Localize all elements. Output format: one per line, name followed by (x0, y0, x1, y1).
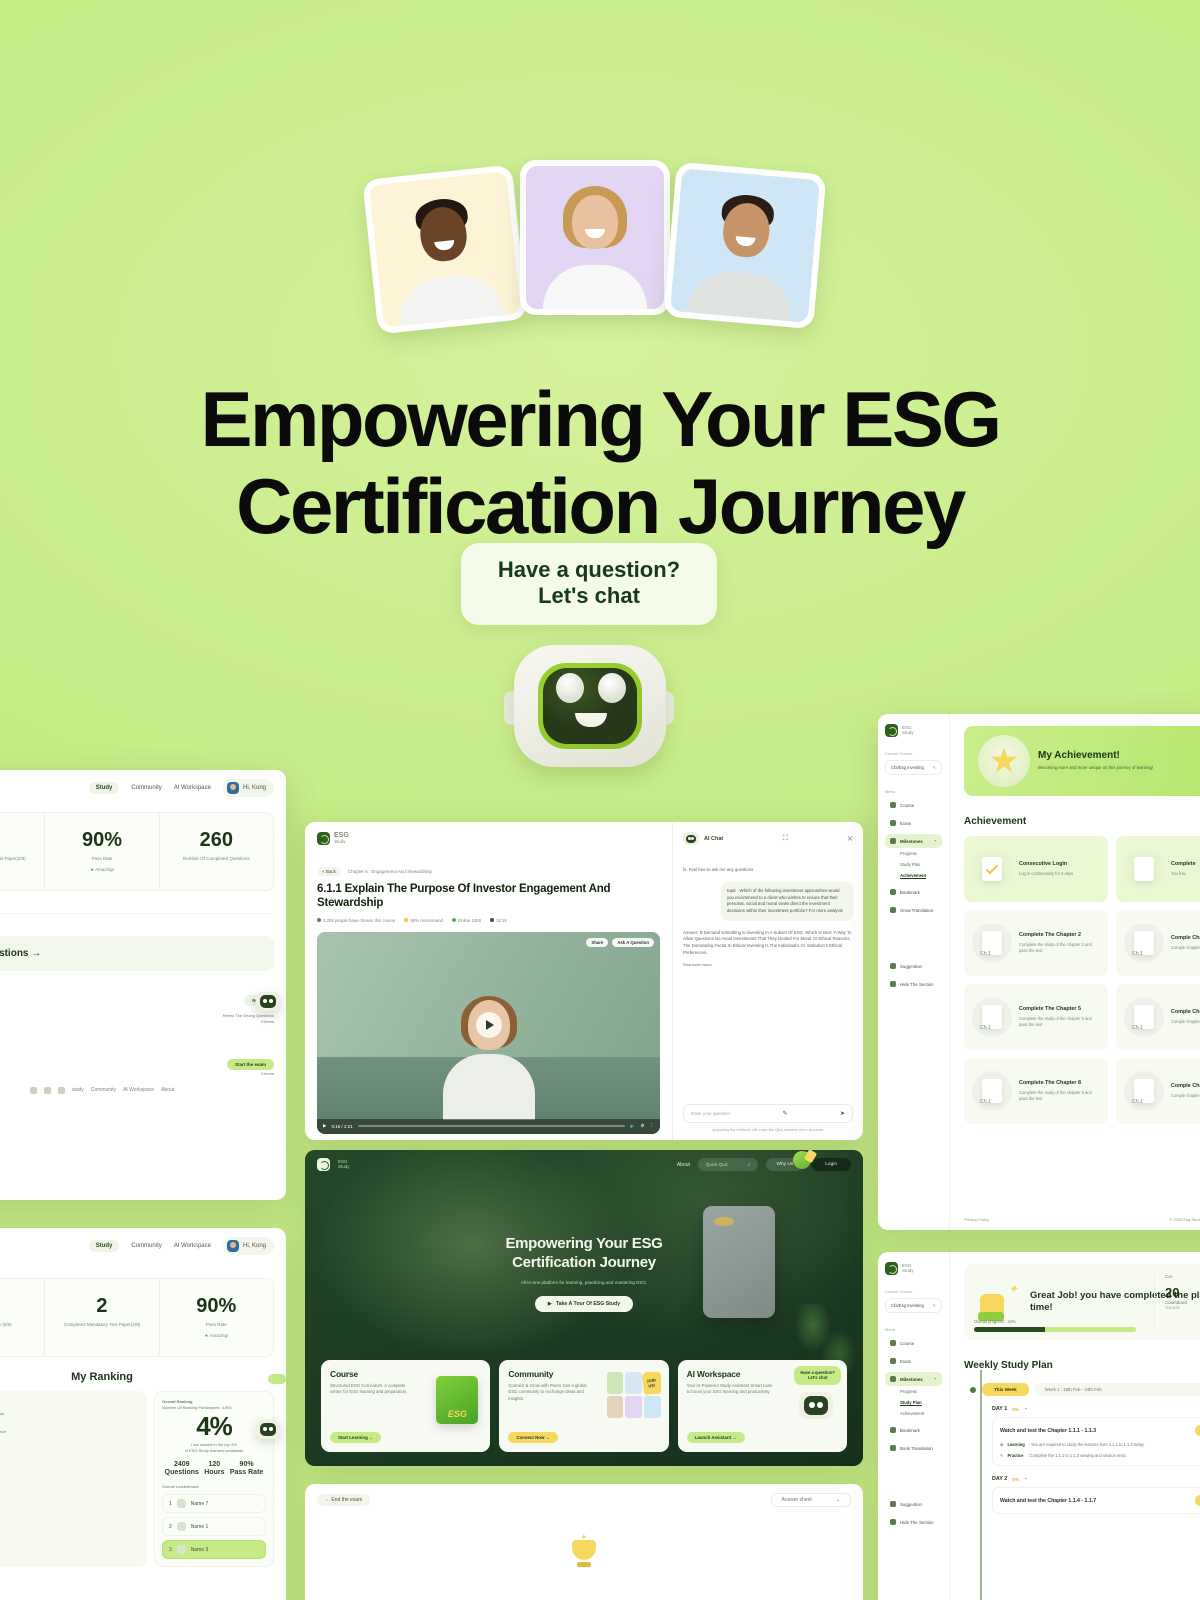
sidebar-item-progress[interactable]: Progress (885, 1386, 942, 1397)
footer-link-ai[interactable]: AI Workspace (123, 1087, 154, 1093)
bar-value: 90% (240, 1461, 254, 1468)
sidebar-item-label: Milestones (900, 839, 923, 844)
ai-greeting: hi, Feel free to ask me any questions (683, 867, 853, 872)
achievement-desc: Log in continuously for 5 days (1019, 871, 1073, 877)
sidebar-bottom: Suggestion Hide The Section (885, 1497, 942, 1529)
assistant-message: Answer: B Demand something to investing … (683, 930, 853, 957)
nav-ai-workspace[interactable]: AI Workspace (174, 785, 211, 791)
reanswer-button[interactable]: Reanswer Issue (683, 962, 853, 968)
exam-screenshot[interactable]: ← End the exam Answer sheet ⌄ ✦ (305, 1484, 863, 1600)
close-icon[interactable]: ✕ (847, 835, 853, 843)
achievement-title: Complete The Chapter 5 (1019, 1006, 1100, 1013)
user-chip[interactable]: Hi, Kong (223, 1237, 274, 1255)
footer: Privacy Policy © 2025 Esg Study. powered… (950, 1217, 1200, 1222)
stat-caption: Completed Mandatory Test Paper(2/9) (49, 1322, 154, 1329)
stat-sub: ★ Amazing! (49, 867, 154, 874)
ai-chat-pane: AI Chat ⛶ ✕ hi, Feel free to ask me any … (673, 822, 863, 1140)
timeline-dot (970, 1387, 976, 1393)
sidebar-item-book-translation[interactable]: Book Translation (885, 1441, 942, 1455)
chevron-up-icon: ⌃ (934, 1377, 937, 1382)
user-message: topic : Which of the following investmen… (721, 882, 853, 921)
collapse-icon (890, 981, 896, 987)
achievement-desc: Complete the study of the chapter 8 and … (1019, 1090, 1100, 1102)
sidebar-item-label: Suggestion (900, 964, 922, 969)
nav-about[interactable]: About (677, 1162, 690, 1168)
sidebar-item-milestones[interactable]: Milestones⌃ (885, 834, 942, 848)
answer-sheet-label: Answer sheet (782, 1497, 812, 1503)
achievement-desc: You hav (1171, 871, 1196, 877)
achievement-grid: Consecutive LoginLog in continuously for… (964, 836, 1200, 1124)
chat-bubble-line2: Let's chat (800, 1375, 835, 1380)
sidebar-item-milestones[interactable]: Milestones⌃ (885, 1372, 942, 1386)
day-label: DAY 1 (992, 1406, 1007, 1412)
progress-label: Overall progress : 44% (974, 1319, 1136, 1324)
feature-cards: Course Structured ESG Curriculum. A comp… (321, 1360, 847, 1452)
volume-icon[interactable]: 🔈 (630, 1123, 636, 1129)
send-icon[interactable]: ➤ (840, 1110, 845, 1117)
exam-icon (890, 820, 896, 826)
ch1-icon: Ch.1 (972, 1071, 1012, 1111)
member-grid-icon: JOIN US! (593, 1370, 661, 1436)
ch1-icon: Ch.1 (1124, 1071, 1164, 1111)
hero-title-line2: Certification Journey (305, 1254, 863, 1273)
retest-count: 0 items (0, 1019, 274, 1025)
sidebar: ESGStudy Current Course Cfa/Esg Investin… (878, 714, 950, 1230)
achievement-card[interactable]: CompleteYou hav (1116, 836, 1200, 902)
stat-sub: ★ Amazing! (164, 1333, 269, 1340)
pencil-icon: ✎ (1000, 1453, 1003, 1458)
sidebar-item-study-plan[interactable]: Study Plan (885, 1397, 942, 1408)
list-item[interactable]: 2Name 1 (162, 1517, 266, 1536)
sidebar-item-suggestion[interactable]: Suggestion (885, 959, 942, 973)
list-item[interactable]: 3Name 3 (162, 1540, 266, 1559)
sidebar-item-course[interactable]: Course (885, 1336, 942, 1350)
bookmark-icon (890, 889, 896, 895)
section-title: Achievement (964, 816, 1200, 827)
stat-value: 260 (164, 829, 269, 852)
task-title: Watch and test the Chapter 1.1.4 - 1.1.7 (1000, 1498, 1096, 1504)
task-item-label: Learning (1007, 1442, 1024, 1447)
studyplan-main: ✦ Great Job! you have completed the plan… (950, 1252, 1200, 1600)
hero-subtitle: All-in-one platform for learning, practi… (305, 1280, 863, 1285)
ch1-icon: Ch.1 (972, 997, 1012, 1037)
take-a-tour-label: Take A Tour Of ESG Study (556, 1301, 620, 1307)
chevron-up-icon: ⌃ (934, 839, 937, 844)
bar-value: 120 (209, 1461, 221, 1468)
play-icon[interactable]: ▶ (323, 1123, 326, 1129)
star-icon-meta: 98% recommend (404, 918, 442, 923)
video-time: 0:16 / 2:21 (331, 1124, 352, 1129)
bulb-icon (890, 963, 896, 969)
connect-now-button[interactable]: Connect Now → (508, 1432, 558, 1443)
feature-card-community[interactable]: Community Connect & Grow with Peers Join… (499, 1360, 668, 1452)
nav-community[interactable]: Community (131, 785, 161, 791)
course-meta: 3,205 people have chosen this course 98%… (317, 918, 660, 923)
rank-number: 2 (169, 1524, 172, 1530)
chat-bubble-tail (578, 610, 602, 626)
divider (0, 913, 274, 914)
this-week-tab[interactable]: This Week (982, 1383, 1029, 1396)
skill-desc: stand ESG metrics and interpret data (0, 1411, 139, 1417)
nav-why-us[interactable]: Why Us (766, 1158, 803, 1171)
day-header[interactable]: DAY 2 0% ⌃ (992, 1476, 1200, 1482)
skill-desc: investments with ESG goals (0, 1453, 139, 1459)
user-label: Hi, Kong (243, 785, 266, 791)
studyplan-dashboard-screenshot[interactable]: ESGStudy Current Course Cfa/Esg Investin… (878, 1252, 1200, 1600)
logo-sub: Study (338, 1165, 350, 1170)
bar-value: 2409 (174, 1461, 190, 1468)
leaf-icon (792, 1150, 813, 1171)
ch1-icon: Ch.1 (1124, 923, 1164, 963)
sidebar-item-label: Grow Translation (900, 908, 933, 913)
sidebar-item-label: Course (900, 1341, 914, 1346)
rank-bars: 2409Questions 120Hours 90%Pass Rate (162, 1461, 266, 1479)
watch-video-button[interactable]: ▶ Watch Video (1195, 1495, 1200, 1506)
answer-sheet-select[interactable]: Answer sheet ⌄ (771, 1493, 852, 1507)
ask-question-button[interactable]: Ask A Question (612, 938, 654, 947)
robot-icon[interactable] (256, 992, 280, 1011)
exam-toolbar: ← End the exam Answer sheet ⌄ (305, 1484, 863, 1516)
feature-desc: Connect & Grow with Peers Join a global … (508, 1383, 596, 1402)
studyplan-banner: ✦ Great Job! you have completed the plan… (964, 1264, 1200, 1340)
clock-icon-meta: 32:18 (490, 918, 507, 923)
progress-block: Overall progress : 44% (974, 1319, 1136, 1332)
sidebar-item-label: Bookmark (900, 890, 920, 895)
band-title: ng Test Questions (0, 948, 29, 959)
task-item-text: : Complete the 1.1.1 to 1.1.3 viewing an… (1027, 1453, 1126, 1458)
bookmark-icon (890, 1427, 896, 1433)
avatar (227, 1240, 239, 1252)
achievement-banner: My Achievement! Becoming more and more u… (964, 726, 1200, 796)
page-icon (1124, 849, 1164, 889)
landing-page-screenshot[interactable]: ESGStudy About Quick Quiz ⌕ Why Us Login… (305, 1150, 863, 1466)
achievement-title: Complete (1171, 861, 1196, 868)
play-button[interactable] (476, 1012, 502, 1038)
end-exam-button[interactable]: ← End the exam (317, 1494, 370, 1506)
rank-number: 3 (169, 1547, 172, 1553)
chevron-down-icon: ⌄ (836, 1497, 840, 1503)
hero-copy: Empowering Your ESG Certification Journe… (305, 1235, 863, 1312)
sidebar-item-study-plan[interactable]: Study Plan (885, 859, 942, 870)
achievement-title: Complete The Chapter 2 (1019, 932, 1100, 939)
achievement-dashboard-screenshot[interactable]: ESGStudy Current Course Cfa/Esg Investin… (878, 714, 1200, 1230)
esg-book-icon (415, 1370, 483, 1436)
sidebar-item-exam[interactable]: Exam (885, 1354, 942, 1368)
achievement-desc: Comple chapter (1171, 1019, 1200, 1025)
achievement-title: Comple Chapte (1171, 935, 1200, 942)
day-percent: 0% (1012, 1477, 1019, 1482)
chat-bubble: Have a question? Let's chat (794, 1366, 841, 1385)
achievement-title: Comple Chapte (1171, 1009, 1200, 1016)
watch-video-button[interactable]: ▶ Watch Video (1195, 1425, 1200, 1436)
page-root: Empowering Your ESG Certification Journe… (0, 0, 1200, 1600)
flag-icon (890, 838, 896, 844)
timeline-line (980, 1370, 982, 1600)
expand-icon[interactable]: ⛶ (783, 835, 788, 843)
countdown-value: 20 (1165, 1285, 1200, 1300)
nav-study[interactable]: Study (89, 782, 120, 794)
sidebar-item-hide-section[interactable]: Hide The Section (885, 977, 942, 991)
robot-icon[interactable] (256, 1420, 280, 1439)
brand-logo[interactable]: ESGStudy (885, 724, 942, 737)
sidebar-item-achievement[interactable]: Achievement (885, 870, 942, 881)
task-card[interactable]: Watch and test the Chapter 1.1.4 - 1.1.7… (992, 1487, 1200, 1514)
menu-label: Menu (885, 1327, 942, 1332)
avatar (227, 782, 239, 794)
bulb-icon (890, 1501, 896, 1507)
course-label: esting (0, 1266, 274, 1272)
back-button[interactable]: < Back (317, 867, 341, 876)
attach-icon[interactable]: ✎ (782, 1110, 787, 1117)
logo-sub: Study (902, 731, 914, 736)
x-icon[interactable] (58, 1087, 65, 1094)
achievement-card[interactable]: Ch.1Comple ChapteComple chapter (1116, 1058, 1200, 1124)
sidebar-item-exam[interactable]: Exam (885, 816, 942, 830)
ch1-icon: Ch.1 (972, 923, 1012, 963)
brand-logo[interactable]: ESGStudy (885, 1262, 942, 1275)
privacy-policy-link[interactable]: Privacy Policy (964, 1217, 989, 1222)
sidebar-item-bookmark[interactable]: Bookmark (885, 885, 942, 899)
share-button[interactable]: Share (586, 938, 608, 947)
footer-link-study[interactable]: study (72, 1087, 84, 1093)
sidebar-item-label: Exam (900, 821, 911, 826)
stat-card: 2Completed Mandatory Test Paper(2/9) (0, 813, 45, 890)
achievement-card[interactable]: Ch.1Complete The Chapter 2Complete the s… (964, 910, 1108, 976)
avatar-card-1 (362, 165, 527, 335)
search-icon[interactable]: ⌕ (748, 1162, 751, 1167)
sidebar-bottom: Suggestion Hide The Section (885, 959, 942, 991)
achievement-card[interactable]: Ch.1Comple ChapteComple chapter (1116, 910, 1200, 976)
task-title: Watch and test the Chapter 1.1.1 - 1.1.3 (1000, 1428, 1096, 1434)
countdown-sub: You hav (1165, 1305, 1200, 1310)
countdown-head: Cor (1165, 1274, 1200, 1279)
stat-card: 260Number Of Completed Questions (160, 813, 273, 890)
achievement-title: Consecutive Login (1019, 861, 1073, 868)
nav-study[interactable]: Study (89, 1240, 120, 1252)
play-icon: ▶ (548, 1301, 552, 1307)
logo-icon (317, 832, 330, 845)
stat-value: 2 (49, 1295, 154, 1318)
footer-links: study Community AI Workspace About (0, 1077, 286, 1104)
start-exam-button[interactable]: Start the exam (227, 1059, 274, 1070)
stat-value: 6 (0, 1295, 40, 1318)
ai-chat-title: AI Chat (704, 836, 723, 842)
online-icon-meta: Online 1200 (452, 918, 481, 923)
bar-label: Questions (165, 1468, 199, 1479)
sidebar-item-course[interactable]: Course (885, 798, 942, 812)
logo-icon[interactable] (317, 1158, 330, 1171)
people-icon-meta: 3,205 people have chosen this course (317, 918, 395, 923)
stats-row: 2Completed Mandatory Test Paper(2/9) 90%… (0, 812, 274, 891)
achievement-title: Complete The Chapter 8 (1019, 1080, 1100, 1087)
day-header[interactable]: DAY 1 0% ⌃ (992, 1406, 1200, 1412)
feature-card-course[interactable]: Course Structured ESG Curriculum. A comp… (321, 1360, 490, 1452)
banner-desc: Becoming more and more unique on this jo… (1038, 765, 1153, 771)
avatar-card-3 (664, 162, 827, 329)
search-placeholder: Quick Quiz (706, 1162, 728, 1167)
skills-list: ytical skills: stand ESG metrics and int… (0, 1391, 147, 1568)
launch-assistant-button[interactable]: Launch Assistant → (687, 1432, 745, 1443)
stat-card: 6Completed Course (6/9) (0, 1279, 45, 1356)
rank-percent: 4% (162, 1411, 266, 1442)
achievement-card[interactable]: Ch.1Comple ChapteComple chapter (1116, 984, 1200, 1050)
edit-icon[interactable]: ✎ (933, 1303, 936, 1308)
rank-name: Name 1 (191, 1524, 209, 1530)
stat-caption: Completed Course (6/9) (0, 1322, 40, 1329)
medal-icon (978, 735, 1030, 787)
nav-why-us-label: Why Us (776, 1162, 793, 1167)
feature-desc: Your AI-Powered Study Assistant Smart to… (687, 1383, 775, 1396)
sidebar-item-label: Hide The Section (900, 982, 934, 987)
chat-input[interactable]: Enter your question ✎ ➤ (683, 1104, 853, 1123)
sidebar-item-bookmark[interactable]: Bookmark (885, 1423, 942, 1437)
feature-title: Course (330, 1369, 418, 1379)
video-controls[interactable]: ▶ 0:16 / 2:21 🔈 ⚙ ⋮ (317, 1119, 660, 1134)
rank-name: Name 7 (191, 1501, 209, 1507)
sidebar-item-progress[interactable]: Progress (885, 848, 942, 859)
achievement-desc: Complete the study of the chapter 5 and … (1019, 1016, 1100, 1028)
course-detail-screenshot[interactable]: ESGStudy < Back Chapter 6 : Engagement A… (305, 822, 863, 1140)
start-learning-button[interactable]: Start Learning → (330, 1432, 381, 1443)
chevron-up-icon[interactable]: ⌃ (1024, 1407, 1027, 1412)
exam-icon (890, 1358, 896, 1364)
breadcrumb-text: Chapter 6 : Engagement And Stewardship (348, 869, 432, 874)
stat-value: 90% (49, 829, 154, 852)
skill-desc2: ake to real-world scenarios. (0, 1435, 139, 1441)
sidebar-item-label: Book Translation (900, 1446, 933, 1451)
achievement-card[interactable]: Ch.1Complete The Chapter 8Complete the s… (964, 1058, 1108, 1124)
task-item: ✎Practice: Complete the 1.1.1 to 1.1.3 v… (1000, 1453, 1200, 1458)
hero-title-line1: Empowering Your ESG (305, 1235, 863, 1254)
course-title: 6.1.1 Explain The Purpose Of Investor En… (317, 882, 660, 911)
sidebar-item-label: Milestones (900, 1377, 923, 1382)
video-player[interactable]: Share Ask A Question ▶ 0:16 / 2:21 🔈 ⚙ ⋮ (317, 932, 660, 1134)
footer-link-community[interactable]: Community (91, 1087, 116, 1093)
page-title-line2: Certification Journey (0, 469, 1200, 544)
book-icon (890, 1340, 896, 1346)
video-progress-bar[interactable] (358, 1125, 625, 1127)
join-us-badge: JOIN US! (641, 1372, 661, 1395)
logo-icon (885, 1262, 898, 1275)
feature-title: Community (508, 1369, 596, 1379)
nav-community[interactable]: Community (131, 1243, 161, 1249)
bar-label: Hours (204, 1468, 224, 1479)
page-title: Empowering Your ESG Certification Journe… (0, 382, 1200, 544)
task-card[interactable]: Watch and test the Chapter 1.1.1 - 1.1.3… (992, 1417, 1200, 1466)
dashboard-top-left-screenshot[interactable]: Study Community AI Workspace Hi, Kong 2C… (0, 770, 286, 1200)
twitter-icon[interactable] (44, 1087, 51, 1094)
nav-ai-workspace[interactable]: AI Workspace (174, 1243, 211, 1249)
current-course-label: Current Course (885, 1289, 942, 1294)
list-item[interactable]: 1Name 7 (162, 1494, 266, 1513)
pill-badge (268, 1374, 286, 1384)
sidebar-item-label: Exam (900, 1359, 911, 1364)
progress-bar (974, 1327, 1136, 1332)
avatar-card-2 (520, 160, 670, 315)
ranking-title: My Ranking (0, 1371, 286, 1383)
sidebar: ESGStudy Current Course Cfa/Esg Investin… (878, 1252, 950, 1600)
achievement-card[interactable]: Ch.1Complete The Chapter 5Complete the s… (964, 984, 1108, 1050)
edit-icon[interactable]: ✎ (933, 765, 936, 770)
rank-card: Overall Ranking Number Of Ranking Partic… (154, 1391, 274, 1568)
achievement-desc: Comple chapter (1171, 1093, 1200, 1099)
time-hint: (You use time: 30 min) (0, 1031, 274, 1037)
settings-icon[interactable]: ⚙ (640, 1123, 644, 1129)
stat-caption: Pass Rate (164, 1322, 269, 1329)
stat-value: 2 (0, 829, 40, 852)
achievement-desc: Complete the study of the chapter 2 and … (1019, 942, 1100, 954)
sidebar-item-label: Course (900, 803, 914, 808)
brand-logo[interactable]: ESGStudy (317, 832, 660, 845)
stat-card: 2Completed Mandatory Test Paper(2/9) (45, 1279, 159, 1356)
chat-bubble-line1: Have a question? (471, 557, 707, 583)
chevron-up-icon[interactable]: ⌃ (1024, 1477, 1027, 1482)
stat-caption: Completed Mandatory Test Paper(2/9) (0, 856, 40, 863)
robot-icon (799, 1392, 833, 1419)
footer-link-about[interactable]: About (161, 1087, 174, 1093)
user-chip[interactable]: Hi, Kong (223, 779, 274, 797)
logo-sub: Study (334, 840, 349, 845)
current-course-label: Current Course (885, 751, 942, 756)
current-course-value: Cfa/Esg Investing (891, 765, 924, 770)
sidebar-item-hide-section[interactable]: Hide The Section (885, 1515, 942, 1529)
week-selector: This Week Week 1 : 19th Feb - 24th Feb (964, 1383, 1200, 1396)
leaderboard-title: Overall Leaderboard (162, 1484, 266, 1490)
menu-label: Menu (885, 789, 942, 794)
current-course-select[interactable]: Cfa/Esg Investing ✎ (885, 760, 942, 775)
sidebar-item-suggestion[interactable]: Suggestion (885, 1497, 942, 1511)
sidebar-item-achievement[interactable]: Achievement (885, 1408, 942, 1419)
translate-icon (890, 907, 896, 913)
arrow-right-icon: → (31, 948, 41, 959)
chat-bubble-line2: Let's chat (471, 583, 707, 609)
avatar (177, 1499, 186, 1508)
achievement-title: Comple Chapte (1171, 1083, 1200, 1090)
ranking-wrap: ytical skills: stand ESG metrics and int… (0, 1391, 274, 1568)
dashboard-bottom-left-screenshot[interactable]: Study Community AI Workspace Hi, Kong es… (0, 1228, 286, 1600)
robot-icon[interactable] (494, 645, 684, 770)
take-a-tour-button[interactable]: ▶ Take A Tour Of ESG Study (535, 1296, 633, 1312)
ch1-icon: Ch.1 (1124, 997, 1164, 1037)
dashboard-topnav: Study Community AI Workspace Hi, Kong (0, 1228, 286, 1264)
check-page-icon (972, 849, 1012, 889)
achievement-card[interactable]: Consecutive LoginLog in continuously for… (964, 836, 1108, 902)
stat-caption: Number Of Completed Questions (164, 856, 269, 863)
retest-block: Retest Retest The Wrong Questions 0 item… (0, 989, 274, 1025)
search-input[interactable]: Quick Quiz ⌕ (698, 1158, 759, 1171)
banner-title: My Achievement! (1038, 750, 1153, 761)
current-course-value: Cfa/Esg Investing (891, 1303, 924, 1308)
task-item-text: : You are required to study the lessons … (1029, 1442, 1145, 1447)
flag-icon (890, 1376, 896, 1382)
more-icon[interactable]: ⋮ (650, 1123, 655, 1129)
current-course-select[interactable]: Cfa/Esg Investing ✎ (885, 1298, 942, 1313)
logo-icon (885, 724, 898, 737)
stat-value: 90% (164, 1295, 269, 1318)
stat-card: 90%Pass Rate★ Amazing! (45, 813, 159, 890)
day-label: DAY 2 (992, 1476, 1007, 1482)
sidebar-item-grow-translation[interactable]: Grow Translation (885, 903, 942, 917)
week-range: Week 1 : 19th Feb - 24th Feb (1035, 1383, 1200, 1396)
user-label: Hi, Kong (243, 1243, 266, 1249)
share-icon[interactable] (30, 1087, 37, 1094)
login-button[interactable]: Login (811, 1158, 851, 1171)
achievement-desc: Comple chapter (1171, 945, 1200, 951)
collapse-icon (890, 1519, 896, 1525)
test-questions-band[interactable]: ng Test Questions → (0, 936, 274, 971)
feature-card-ai-workspace[interactable]: AI Workspace Your AI-Powered Study Assis… (678, 1360, 847, 1452)
stat-card: 90%Pass Rate★ Amazing! (160, 1279, 273, 1356)
